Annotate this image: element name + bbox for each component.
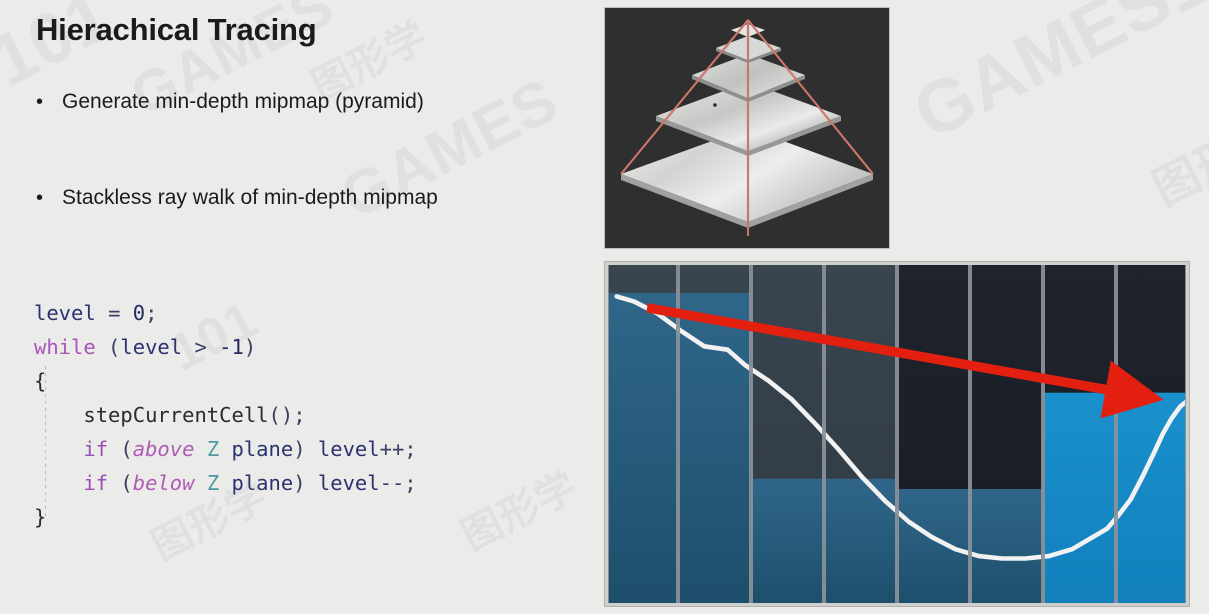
code-token: (); [269, 403, 306, 427]
code-token: plane [232, 471, 294, 495]
hiz-chart-svg [605, 262, 1189, 606]
code-line: if (above Z plane) level++; [34, 432, 417, 466]
code-token: stepCurrentCell [83, 403, 268, 427]
watermark-text: GAMES1 [900, 0, 1209, 156]
page-title: Hierachical Tracing [36, 12, 317, 48]
code-token [34, 403, 83, 427]
mipmap-pyramid-image [605, 8, 889, 248]
code-token: ) [244, 335, 256, 359]
code-block: level = 0;while (level > -1){ stepCurren… [34, 296, 417, 534]
cell-mindepth-6 [1043, 393, 1117, 606]
bullet-item: • Stackless ray walk of min-depth mipmap [36, 186, 438, 210]
cell-mindepth-1 [678, 293, 752, 606]
code-token: ( [108, 437, 133, 461]
code-token: level [318, 471, 380, 495]
code-line: stepCurrentCell(); [34, 398, 417, 432]
cell-mindepth-7 [1116, 393, 1189, 606]
code-token: ; [145, 301, 157, 325]
code-token: below [133, 471, 195, 495]
code-token [219, 437, 231, 461]
code-line: if (below Z plane) level--; [34, 466, 417, 500]
code-token: ++; [380, 437, 417, 461]
code-token [120, 301, 132, 325]
code-token: if [83, 471, 108, 495]
bullet-marker: • [36, 186, 62, 208]
hiz-raywalk-diagram [605, 262, 1189, 606]
code-token: = [108, 301, 120, 325]
code-token: > [182, 335, 219, 359]
code-token: Z [207, 471, 219, 495]
cell-mindepth-0 [605, 293, 679, 606]
code-token: if [83, 437, 108, 461]
code-token: ) [293, 471, 318, 495]
pyramid-sample-dot [713, 103, 717, 107]
bullet-marker: • [36, 90, 62, 112]
cell-mindepth-3 [824, 479, 898, 606]
code-line: } [34, 500, 417, 534]
code-token: while [34, 335, 96, 359]
code-token [96, 301, 108, 325]
code-token: } [34, 505, 46, 529]
code-token [34, 471, 83, 495]
code-token: above [133, 437, 195, 461]
code-token [219, 471, 231, 495]
code-token: level [120, 335, 182, 359]
code-token [194, 471, 206, 495]
cell-mindepth-4 [897, 489, 971, 606]
code-token: level [34, 301, 96, 325]
code-token: plane [232, 437, 294, 461]
code-token [194, 437, 206, 461]
watermark-text: 图形学 [450, 454, 586, 562]
code-token: Z [207, 437, 219, 461]
slide-root: 101 GAMES 图形学 GAMES 101 图形学 图形学 GAMES1 图… [0, 0, 1209, 614]
code-token [34, 437, 83, 461]
bullet-text: Stackless ray walk of min-depth mipmap [62, 186, 438, 210]
code-line: { [34, 364, 417, 398]
code-token: level [318, 437, 380, 461]
bullet-text: Generate min-depth mipmap (pyramid) [62, 90, 424, 114]
watermark-text: 图形学 [1140, 96, 1209, 219]
code-token: -1 [219, 335, 244, 359]
code-line: while (level > -1) [34, 330, 417, 364]
pyramid-svg [605, 8, 889, 248]
cell-mindepth-2 [751, 479, 825, 606]
code-token: ) [293, 437, 318, 461]
code-token: ( [96, 335, 121, 359]
code-token: ( [108, 471, 133, 495]
code-token: --; [380, 471, 417, 495]
code-token: { [34, 369, 46, 393]
bullet-item: • Generate min-depth mipmap (pyramid) [36, 90, 424, 114]
code-line: level = 0; [34, 296, 417, 330]
code-token: 0 [133, 301, 145, 325]
cell-mindepth-5 [970, 489, 1044, 606]
